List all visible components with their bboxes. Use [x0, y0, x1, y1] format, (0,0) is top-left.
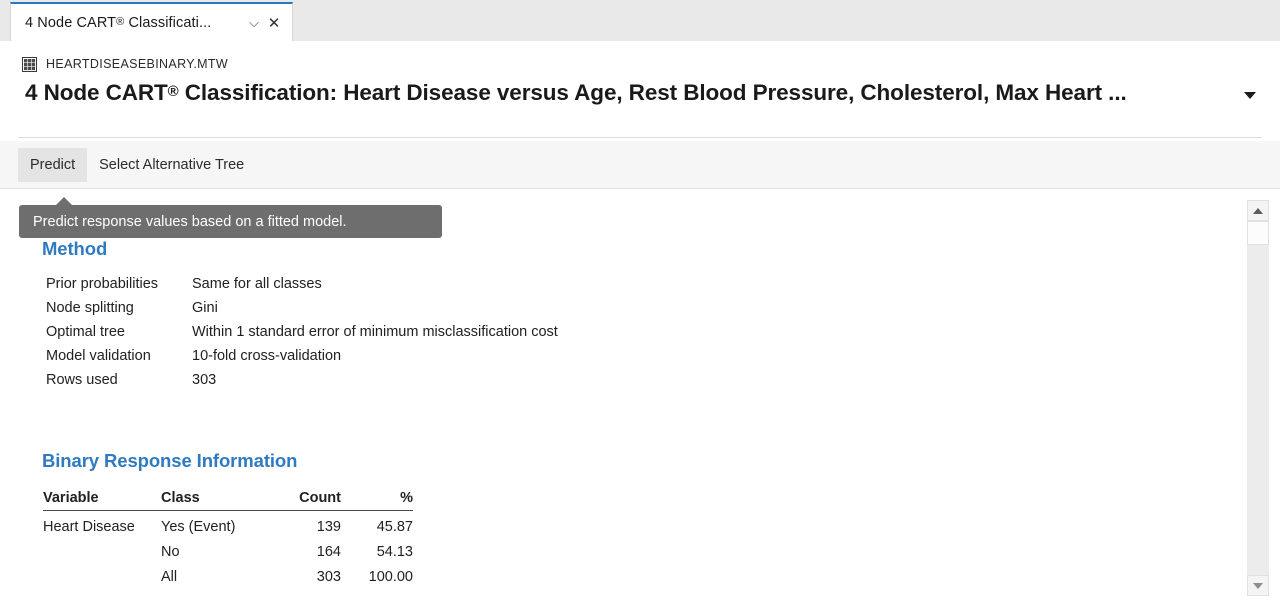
cell-percent: 45.87: [341, 510, 413, 539]
page-title-rest: Classification: Heart Disease versus Age…: [179, 80, 1127, 105]
tab-label-main: 4 Node CART: [25, 15, 116, 31]
binary-response-heading: Binary Response Information: [42, 450, 297, 472]
title-divider: [18, 137, 1262, 138]
column-header-percent: %: [341, 488, 413, 510]
method-value: 303: [192, 372, 216, 388]
tooltip-arrow-icon: [55, 197, 73, 206]
tab-cart-classification[interactable]: 4 Node CART® Classificati... ⌵ ✕: [10, 2, 293, 41]
worksheet-breadcrumb[interactable]: HEARTDISEASEBINARY.MTW: [22, 53, 228, 75]
scrollbar-track[interactable]: [1247, 200, 1269, 596]
column-header-count: Count: [271, 488, 341, 510]
tab-label-rest: Classificati...: [124, 15, 211, 31]
minitab-output-window: 4 Node CART® Classificati... ⌵ ✕ HEARTDI…: [0, 0, 1280, 606]
column-header-class: Class: [161, 488, 271, 510]
method-value: Gini: [192, 300, 218, 316]
cell-percent: 54.13: [341, 539, 413, 564]
scroll-up-button[interactable]: [1247, 200, 1269, 221]
column-header-variable: Variable: [43, 488, 161, 510]
cell-count: 303: [271, 564, 341, 589]
scroll-down-arrow-icon: [1253, 583, 1263, 589]
registered-mark-icon: ®: [168, 83, 179, 100]
scroll-up-arrow-icon: [1253, 208, 1263, 214]
tab-strip: 4 Node CART® Classificati... ⌵ ✕: [0, 0, 1280, 41]
cell-variable: [43, 539, 161, 564]
cell-percent: 100.00: [341, 564, 413, 589]
method-details: Prior probabilities Same for all classes…: [46, 276, 558, 396]
cell-variable: Heart Disease: [43, 510, 161, 539]
chevron-down-icon[interactable]: ⌵: [244, 12, 264, 34]
report-content: Method Prior probabilities Same for all …: [0, 190, 1237, 606]
binary-response-table: Variable Class Count % Heart Disease Yes…: [43, 488, 413, 589]
cell-count: 164: [271, 539, 341, 564]
scroll-down-button[interactable]: [1247, 575, 1269, 596]
cell-variable: [43, 564, 161, 589]
method-value: Within 1 standard error of minimum miscl…: [192, 324, 558, 340]
cell-count: 139: [271, 510, 341, 539]
tooltip-text: Predict response values based on a fitte…: [33, 214, 347, 230]
predict-tooltip: Predict response values based on a fitte…: [19, 205, 442, 238]
predict-button[interactable]: Predict: [18, 148, 87, 182]
method-value: 10-fold cross-validation: [192, 348, 341, 364]
vertical-scrollbar[interactable]: [1237, 190, 1280, 606]
method-row: Model validation 10-fold cross-validatio…: [46, 348, 558, 372]
page-title: 4 Node CART® Classification: Heart Disea…: [25, 80, 1127, 106]
tab-label: 4 Node CART® Classificati...: [25, 15, 244, 31]
method-key: Optimal tree: [46, 324, 192, 340]
title-row: 4 Node CART® Classification: Heart Disea…: [0, 80, 1280, 122]
table-row: No 164 54.13: [43, 539, 413, 564]
select-alternative-tree-button[interactable]: Select Alternative Tree: [87, 148, 256, 182]
worksheet-grid-icon: [22, 57, 37, 72]
caret-down-icon[interactable]: [1244, 92, 1256, 99]
method-row: Prior probabilities Same for all classes: [46, 276, 558, 300]
cell-class: No: [161, 539, 271, 564]
method-row: Optimal tree Within 1 standard error of …: [46, 324, 558, 348]
command-toolbar: Predict Select Alternative Tree: [0, 141, 1280, 189]
page-title-main: 4 Node CART: [25, 80, 168, 105]
worksheet-name: HEARTDISEASEBINARY.MTW: [46, 57, 228, 71]
method-heading: Method: [42, 238, 107, 260]
table-header-row: Variable Class Count %: [43, 488, 413, 510]
method-row: Node splitting Gini: [46, 300, 558, 324]
method-key: Prior probabilities: [46, 276, 192, 292]
close-icon[interactable]: ✕: [264, 12, 284, 34]
method-key: Rows used: [46, 372, 192, 388]
scrollbar-thumb[interactable]: [1247, 221, 1269, 245]
cell-class: Yes (Event): [161, 510, 271, 539]
method-key: Node splitting: [46, 300, 192, 316]
table-row: Heart Disease Yes (Event) 139 45.87: [43, 510, 413, 539]
method-key: Model validation: [46, 348, 192, 364]
table-row: All 303 100.00: [43, 564, 413, 589]
method-row: Rows used 303: [46, 372, 558, 396]
cell-class: All: [161, 564, 271, 589]
method-value: Same for all classes: [192, 276, 322, 292]
